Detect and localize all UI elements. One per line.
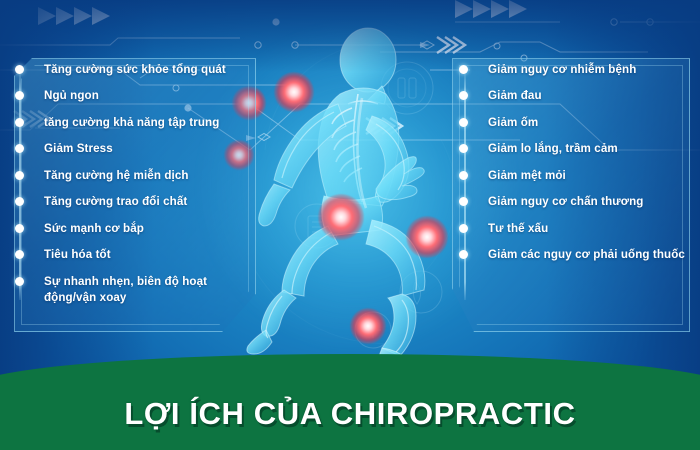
bullet-icon	[459, 224, 468, 233]
list-item[interactable]: Tăng cường hệ miễn dịch	[10, 168, 260, 184]
list-item[interactable]: Tăng cường sức khỏe tổng quát	[10, 62, 260, 78]
list-item-label: tăng cường khả năng tập trung	[44, 115, 219, 131]
list-item-label: Sự nhanh nhẹn, biên độ hoạt động/vận xoa…	[44, 274, 260, 307]
list-item-label: Tư thế xấu	[488, 221, 548, 237]
bullet-icon	[15, 65, 24, 74]
list-item[interactable]: Giảm nguy cơ chấn thương	[455, 194, 697, 210]
list-item-label: Tăng cường trao đổi chất	[44, 194, 187, 210]
list-item-label: Sức mạnh cơ bắp	[44, 221, 144, 237]
list-item[interactable]: Tư thế xấu	[455, 221, 697, 237]
infographic-poster: Tăng cường sức khỏe tổng quát Ngủ ngon t…	[0, 0, 700, 450]
list-item-label: Tiêu hóa tốt	[44, 247, 111, 263]
bullet-icon	[15, 277, 24, 286]
bullet-icon	[459, 144, 468, 153]
pain-point-knee-front	[406, 216, 448, 258]
list-item[interactable]: Sự nhanh nhẹn, biên độ hoạt động/vận xoa…	[10, 274, 260, 307]
list-item[interactable]: Giảm ốm	[455, 115, 697, 131]
pain-point-hip	[318, 194, 364, 240]
list-item[interactable]: Giảm đau	[455, 88, 697, 104]
list-item[interactable]: Giảm mệt mỏi	[455, 168, 697, 184]
bullet-icon	[15, 224, 24, 233]
list-item-label: Giảm mệt mỏi	[488, 168, 566, 184]
bullet-icon	[15, 91, 24, 100]
list-item[interactable]: tăng cường khả năng tập trung	[10, 115, 260, 131]
pain-point-shoulder-right	[274, 72, 314, 112]
list-item[interactable]: Giảm lo lắng, trầm cảm	[455, 141, 697, 157]
bullet-icon	[459, 118, 468, 127]
running-anatomy-figure	[222, 8, 492, 378]
page-title: LỢI ÍCH CỦA CHIROPRACTIC	[0, 396, 700, 432]
benefits-list-right: Giảm nguy cơ nhiễm bệnh Giảm đau Giảm ốm…	[455, 62, 697, 274]
list-item-label: Giảm nguy cơ nhiễm bệnh	[488, 62, 636, 78]
list-item-label: Giảm nguy cơ chấn thương	[488, 194, 643, 210]
list-item[interactable]: Giảm Stress	[10, 141, 260, 157]
bullet-icon	[15, 171, 24, 180]
bullet-icon	[15, 144, 24, 153]
benefits-list-left: Tăng cường sức khỏe tổng quát Ngủ ngon t…	[10, 62, 260, 317]
list-item-label: Tăng cường sức khỏe tổng quát	[44, 62, 226, 78]
bullet-icon	[15, 118, 24, 127]
list-item-label: Giảm lo lắng, trầm cảm	[488, 141, 618, 157]
bullet-icon	[15, 250, 24, 259]
bullet-icon	[459, 171, 468, 180]
list-item[interactable]: Giảm các nguy cơ phải uống thuốc	[455, 247, 697, 263]
list-item[interactable]: Giảm nguy cơ nhiễm bệnh	[455, 62, 697, 78]
bullet-icon	[459, 65, 468, 74]
bullet-icon	[459, 91, 468, 100]
bullet-icon	[459, 250, 468, 259]
list-item-label: Ngủ ngon	[44, 88, 99, 104]
list-item[interactable]: Sức mạnh cơ bắp	[10, 221, 260, 237]
list-item[interactable]: Tăng cường trao đổi chất	[10, 194, 260, 210]
list-item-label: Giảm Stress	[44, 141, 113, 157]
bullet-icon	[15, 197, 24, 206]
bullet-icon	[459, 197, 468, 206]
list-item-label: Giảm các nguy cơ phải uống thuốc	[488, 247, 685, 263]
list-item-label: Giảm đau	[488, 88, 542, 104]
list-item[interactable]: Tiêu hóa tốt	[10, 247, 260, 263]
pain-point-ankle	[350, 308, 386, 344]
list-item-label: Giảm ốm	[488, 115, 538, 131]
list-item-label: Tăng cường hệ miễn dịch	[44, 168, 189, 184]
list-item[interactable]: Ngủ ngon	[10, 88, 260, 104]
